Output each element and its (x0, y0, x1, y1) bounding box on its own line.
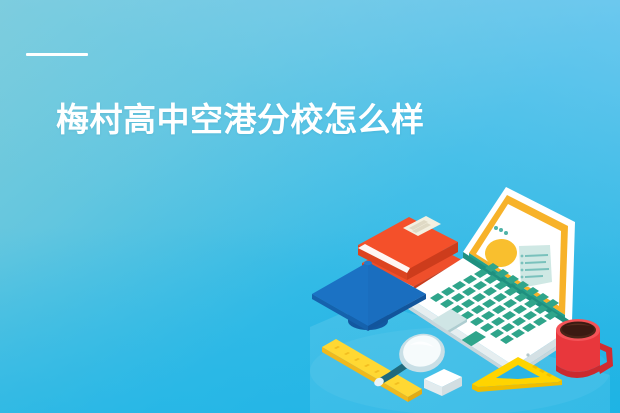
page-root: 梅村高中空港分校怎么样 (0, 0, 620, 413)
title-divider (26, 53, 88, 56)
study-desk-illustration (310, 175, 620, 413)
page-title: 梅村高中空港分校怎么样 (56, 102, 425, 138)
coffee-mug (556, 319, 613, 378)
